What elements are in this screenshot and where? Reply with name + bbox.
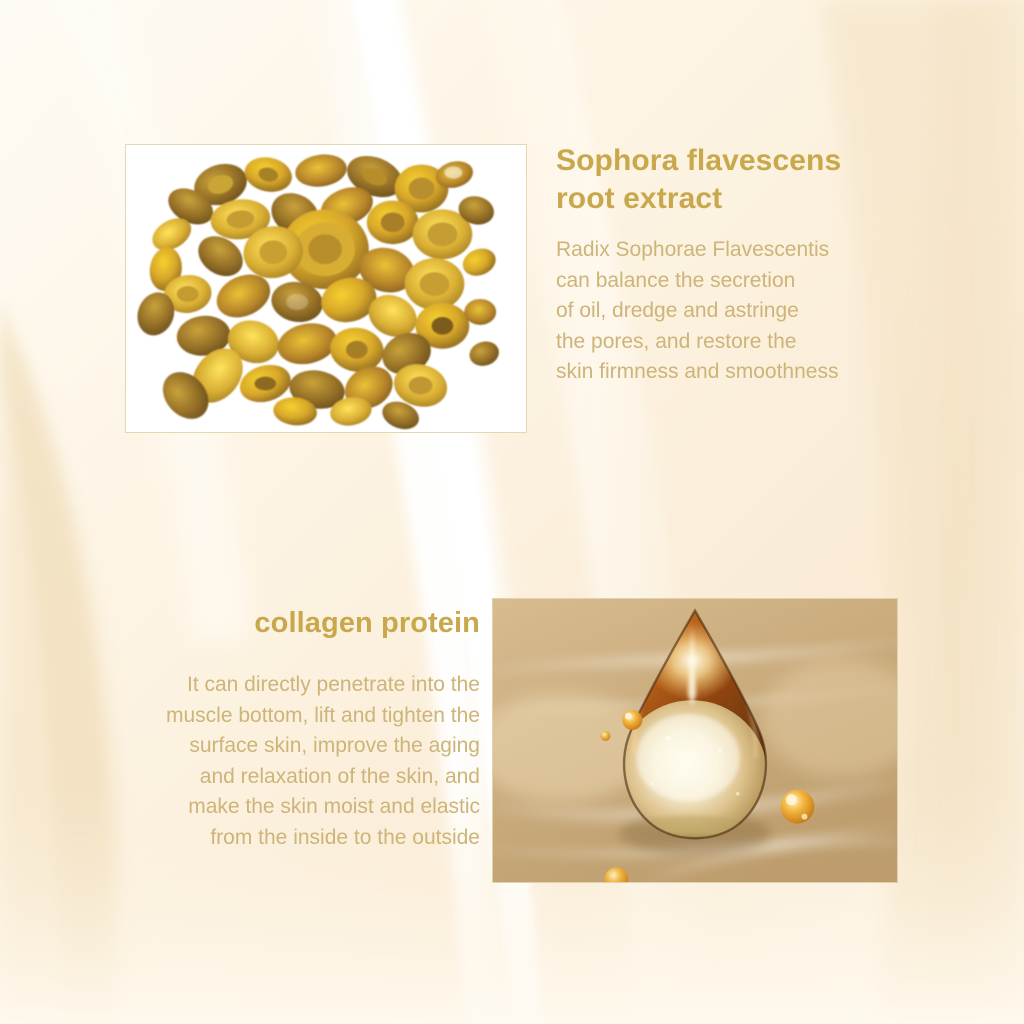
sophora-description-line: skin firmness and smoothness	[556, 357, 946, 388]
sophora-description: Radix Sophorae Flavescentis can balance …	[556, 235, 946, 388]
collagen-description-line: surface skin, improve the aging	[70, 731, 480, 762]
sophora-description-line: the pores, and restore the	[556, 327, 946, 358]
golden-oil-droplet-photo	[492, 598, 898, 883]
collagen-description-line: and relaxation of the skin, and	[70, 762, 480, 793]
sophora-description-line: Radix Sophorae Flavescentis	[556, 235, 946, 266]
collagen-description-line: make the skin moist and elastic	[70, 792, 480, 823]
collagen-description: It can directly penetrate into the muscl…	[70, 670, 480, 853]
collagen-description-line: It can directly penetrate into the	[70, 670, 480, 701]
collagen-heading: collagen protein	[70, 604, 480, 642]
collagen-text-block: collagen protein It can directly penetra…	[70, 604, 480, 853]
sophora-heading-line: root extract	[556, 180, 946, 218]
collagen-description-line: from the inside to the outside	[70, 823, 480, 854]
sophora-heading-line: Sophora flavescens	[556, 142, 946, 180]
sophora-heading: Sophora flavescens root extract	[556, 142, 946, 218]
sophora-root-slices-photo	[125, 144, 527, 433]
collagen-description-line: muscle bottom, lift and tighten the	[70, 701, 480, 732]
poster-canvas: Sophora flavescens root extract Radix So…	[0, 0, 1024, 1024]
sophora-description-line: can balance the secretion	[556, 266, 946, 297]
sophora-text-block: Sophora flavescens root extract Radix So…	[556, 142, 946, 388]
collagen-heading-line: collagen protein	[70, 604, 480, 642]
sophora-description-line: of oil, dredge and astringe	[556, 296, 946, 327]
